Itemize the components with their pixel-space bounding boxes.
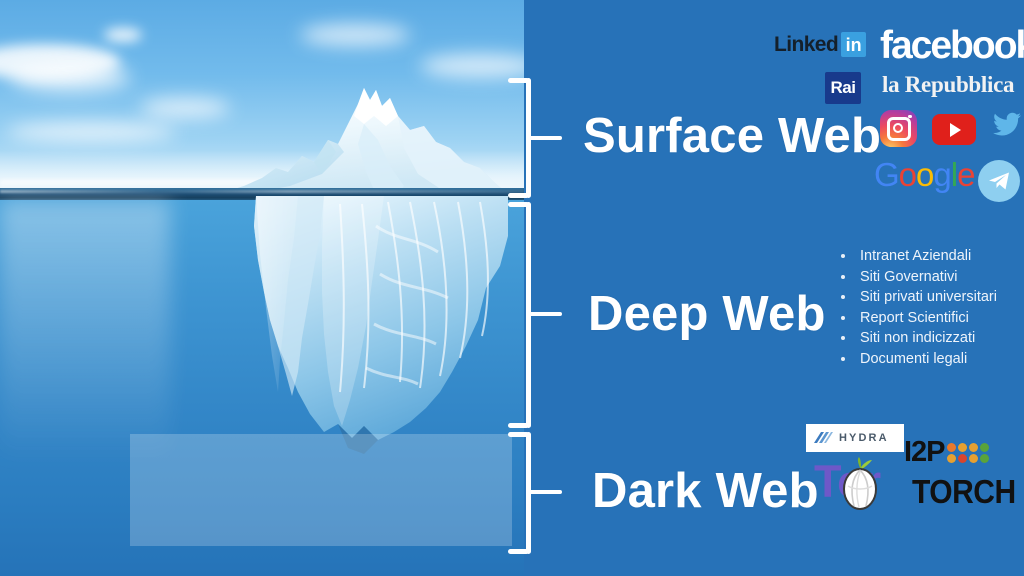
- hydra-mark-icon: [813, 431, 833, 446]
- cloud-icon: [6, 122, 176, 142]
- surface-web-logo-cluster: Linked in facebook. Rai la Repubblica Go…: [770, 14, 1024, 204]
- list-item: Siti privati universitari: [832, 287, 1022, 308]
- google-letter-o1: o: [899, 156, 916, 194]
- section-label-dark-web: Dark Web: [592, 467, 819, 516]
- dark-web-highlight-box: [130, 434, 512, 546]
- list-item: Siti Governativi: [832, 267, 1022, 288]
- list-item: Intranet Aziendali: [832, 246, 1022, 267]
- hydra-wordmark: HYDRA: [839, 432, 889, 444]
- dark-web-bracket: [508, 432, 564, 554]
- linkedin-logo: Linked in: [774, 32, 866, 57]
- google-letter-e: e: [957, 156, 974, 194]
- section-label-deep-web: Deep Web: [588, 290, 826, 339]
- cloud-icon: [140, 98, 230, 118]
- linkedin-wordmark: Linked: [774, 33, 838, 57]
- hydra-logo: HYDRA: [806, 424, 904, 452]
- la-repubblica-logo: la Repubblica: [882, 72, 1014, 98]
- list-item: Documenti legali: [832, 349, 1022, 370]
- list-item: Siti non indicizzati: [832, 328, 1022, 349]
- twitter-icon: [990, 108, 1024, 142]
- cloud-icon: [104, 28, 142, 42]
- deep-web-bracket: [508, 202, 564, 428]
- google-letter-g2: g: [933, 156, 950, 194]
- facebook-logo: facebook.: [880, 24, 1024, 68]
- youtube-icon: [932, 114, 976, 145]
- google-logo: Google: [874, 156, 974, 194]
- google-letter-o2: o: [916, 156, 933, 194]
- deep-web-examples-list: Intranet Aziendali Siti Governativi Siti…: [832, 246, 1022, 370]
- list-item: Report Scientifici: [832, 308, 1022, 329]
- cloud-icon: [10, 62, 130, 92]
- dark-web-logo-cluster: HYDRA I2P Tor TORCH: [800, 412, 1024, 532]
- linkedin-badge: in: [841, 32, 866, 57]
- surface-web-bracket: [508, 78, 564, 198]
- tor-onion-icon: [838, 456, 882, 510]
- instagram-icon: [880, 110, 917, 147]
- i2p-dot-grid-icon: [947, 443, 989, 463]
- cloud-icon: [300, 24, 410, 46]
- iceberg-above-water: [218, 82, 508, 194]
- google-letter-g1: G: [874, 156, 899, 194]
- slide-canvas: Surface Web Deep Web Dark Web Intranet A…: [0, 0, 1024, 576]
- torch-wordmark: TORCH: [912, 474, 1016, 512]
- rai-logo: Rai: [825, 72, 861, 104]
- telegram-icon: [978, 160, 1020, 202]
- i2p-logo: I2P: [904, 436, 989, 469]
- i2p-wordmark: I2P: [904, 436, 945, 469]
- iceberg-photo: [0, 0, 524, 576]
